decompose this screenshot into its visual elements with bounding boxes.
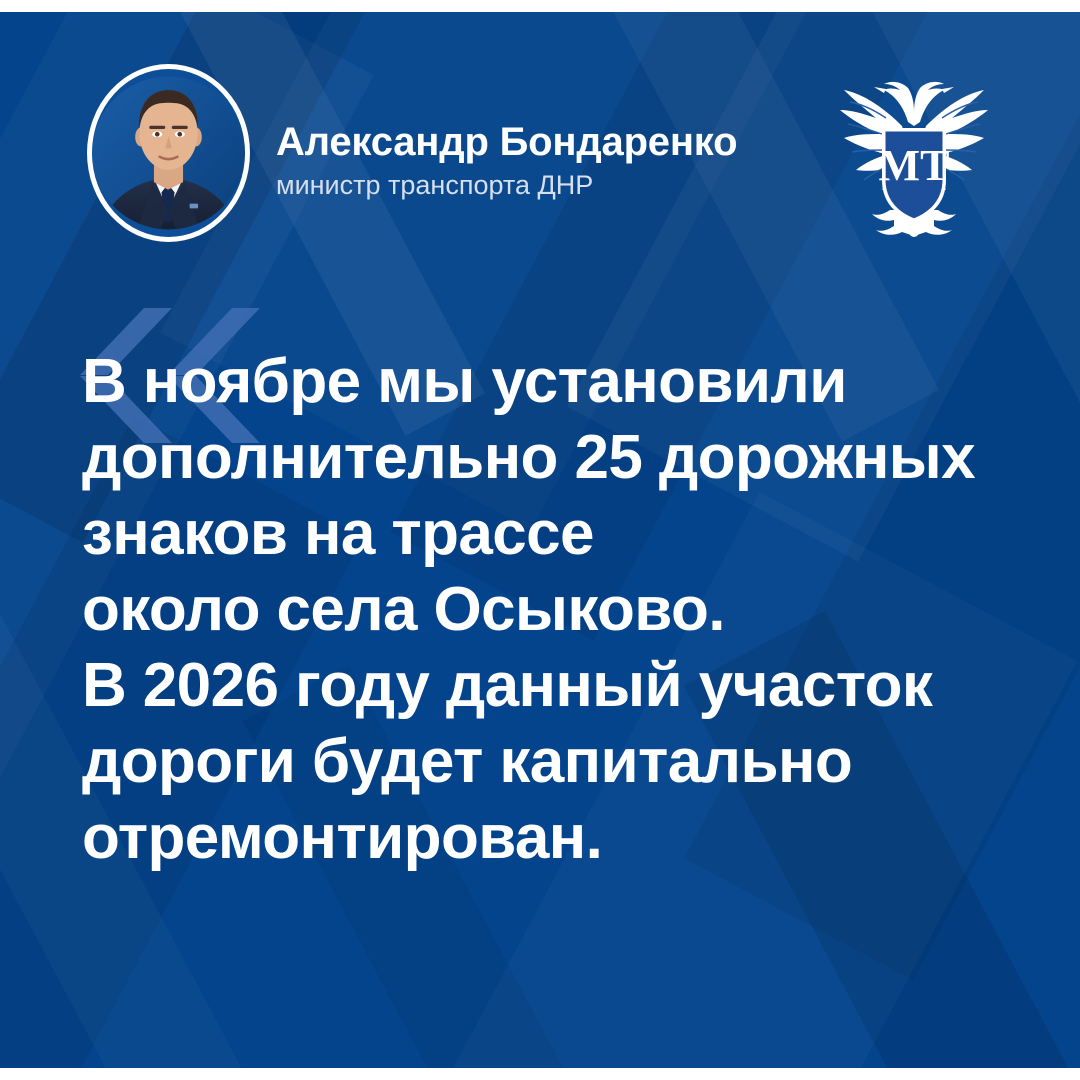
quote-card: Александр Бондаренко министр транспорта …	[0, 0, 1080, 1080]
page-title: Александр Бондаренко	[276, 120, 816, 164]
quote-line: В ноябре мы установили	[82, 344, 1012, 420]
emblem-shield-text: МТ	[879, 141, 950, 190]
quote-line: В 2026 году данный участок	[82, 648, 1012, 724]
quote-line: дополнительно 25 дорожных	[82, 420, 1012, 496]
quote-line: знаков на трассе	[82, 496, 1012, 572]
quote-line: дороги будет капитально	[82, 724, 1012, 800]
speaker-role: министр транспорта ДНР	[276, 170, 816, 201]
double-headed-eagle-emblem: МТ	[824, 64, 1004, 244]
avatar	[87, 64, 250, 242]
quote-line: около села Осыково.	[82, 572, 1012, 648]
speaker-info: Александр Бондаренко министр транспорта …	[276, 120, 816, 201]
header: Александр Бондаренко министр транспорта …	[0, 12, 1080, 274]
quote-line: отремонтирован.	[82, 800, 1012, 876]
portrait-photo	[92, 69, 245, 237]
quote-text: В ноябре мы установили дополнительно 25 …	[82, 344, 1012, 876]
card-canvas: Александр Бондаренко министр транспорта …	[0, 12, 1080, 1068]
